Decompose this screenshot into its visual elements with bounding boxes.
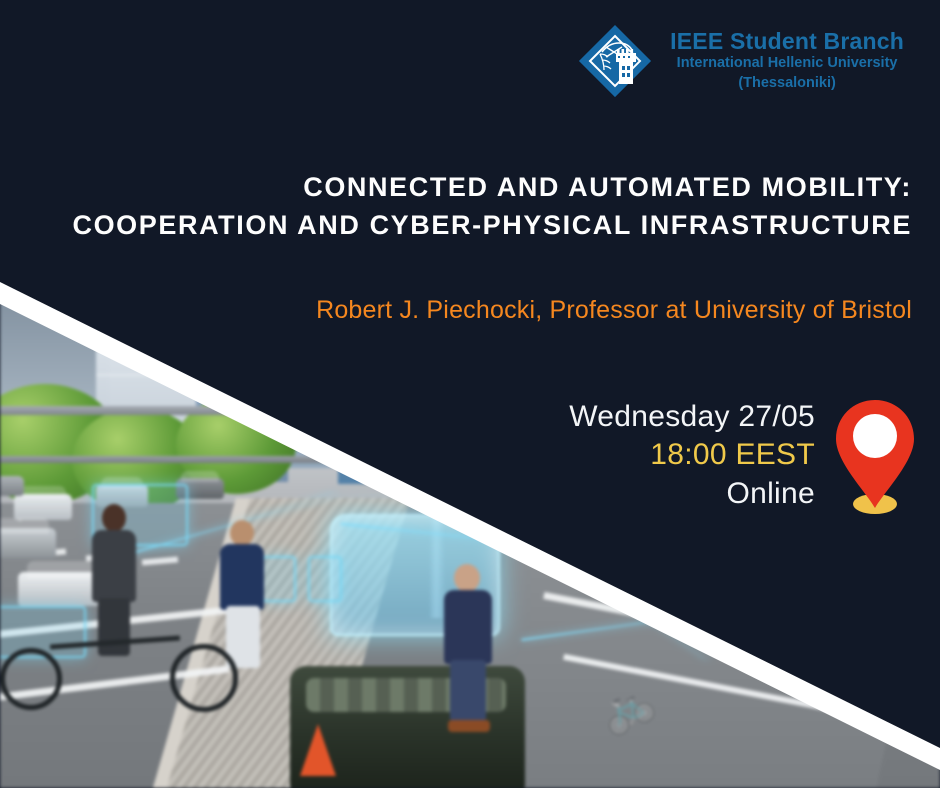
map-pin-icon <box>832 392 918 516</box>
brand-title: IEEE Student Branch <box>670 29 904 54</box>
event-time: 18:00 EEST <box>569 436 815 474</box>
event-date: Wednesday 27/05 <box>569 398 815 436</box>
event-title: Connected and Automated Mobility: Cooper… <box>0 168 912 245</box>
event-poster: ↖ ↗ 🚲 <box>0 0 940 788</box>
event-title-line1: Connected and Automated Mobility: <box>303 172 912 202</box>
brand-subtitle-line1: International Hellenic University <box>670 54 904 74</box>
event-title-line2: Cooperation and Cyber-Physical Infrastru… <box>0 206 912 244</box>
event-location: Online <box>569 475 815 513</box>
brand-subtitle-line2: (Thessaloniki) <box>670 74 904 94</box>
event-speaker: Robert J. Piechocki, Professor at Univer… <box>316 296 912 325</box>
street-photo: ↖ ↗ 🚲 <box>0 0 940 788</box>
event-details: Wednesday 27/05 18:00 EEST Online <box>569 398 815 513</box>
brand-header: IEEE Student Branch International Hellen… <box>576 22 904 100</box>
ieee-student-branch-logo-icon <box>576 22 654 100</box>
